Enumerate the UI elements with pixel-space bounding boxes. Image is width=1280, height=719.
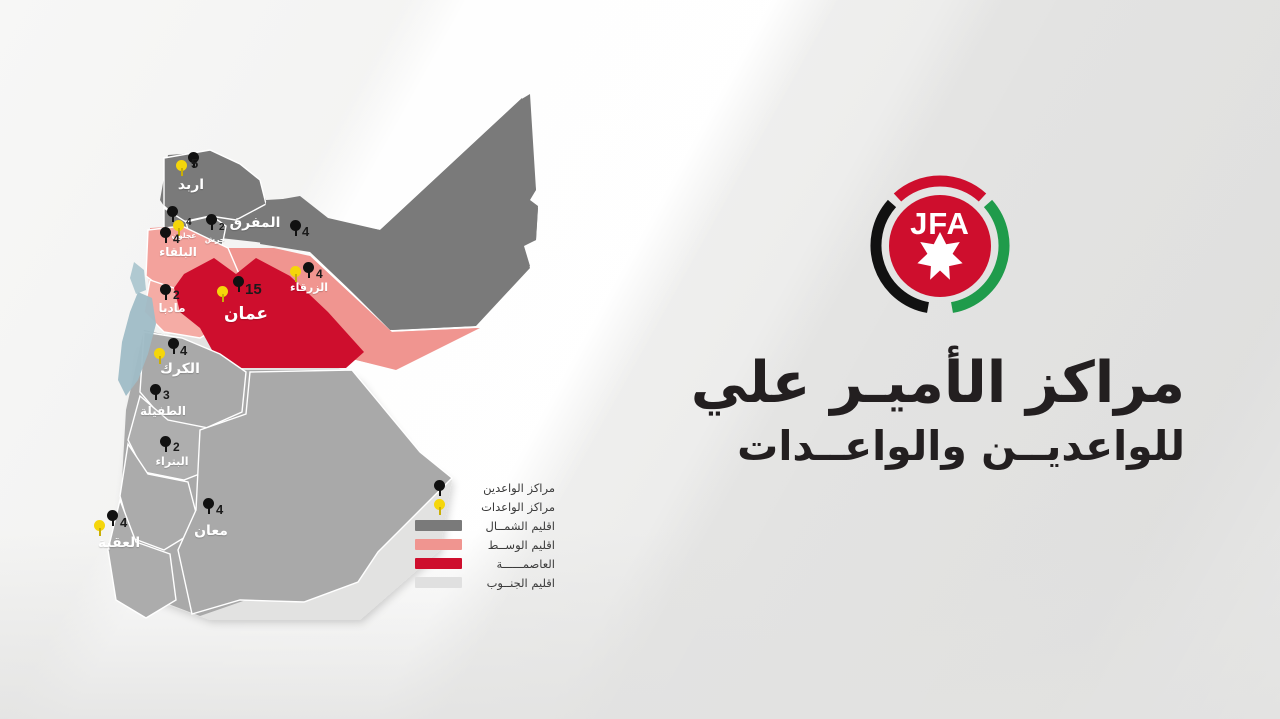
jfa-logo-svg	[862, 168, 1018, 324]
pin-yellow-irbid	[176, 160, 187, 176]
label-petra: البتراء	[155, 455, 188, 468]
count-mafraq: 4	[302, 224, 309, 239]
count-jerash: 2	[219, 222, 225, 233]
legend-label-north-region: اقليم الشمــال	[469, 519, 555, 533]
label-karak: الكرك	[160, 361, 200, 377]
count-aqaba: 4	[120, 515, 127, 530]
count-ajloun: 4	[186, 217, 192, 228]
jordan-river-valley	[130, 262, 146, 294]
count-zarqa: 4	[316, 267, 323, 281]
label-balqa: البلقاء	[159, 245, 197, 259]
legend-row-north-region: اقليم الشمــال	[415, 516, 555, 535]
count-balqa: 4	[173, 232, 180, 246]
legend-row-promising-women-centers: مراكز الواعدات	[415, 497, 555, 516]
pin-black-maan	[203, 498, 214, 514]
headline-line-1: مراكز الأميـر علي	[691, 352, 1185, 416]
map-legend: مراكز الواعدين مراكز الواعدات اقليم الشم…	[415, 478, 555, 592]
pin-yellow-zarqa	[290, 266, 301, 282]
label-amman: عمان	[224, 304, 268, 324]
pin-black-jerash	[206, 214, 217, 230]
label-aqaba: العقبة	[98, 535, 140, 551]
legend-swatch-south-region	[415, 577, 462, 588]
pin-black-aqaba	[107, 510, 118, 526]
pin-yellow-aqaba	[94, 520, 105, 536]
pin-black-karak	[168, 338, 179, 354]
headline: مراكز الأميـر علي للواعديــن والواعــدات	[691, 352, 1185, 471]
legend-label-promising-women-centers: مراكز الواعدات	[469, 500, 555, 514]
pin-black-petra	[160, 436, 171, 452]
legend-label-south-region: اقليم الجنــوب	[469, 576, 555, 590]
legend-swatch-north-region	[415, 520, 462, 531]
pin-black-amman	[233, 276, 244, 292]
count-karak: 4	[180, 343, 187, 358]
pin-black-madaba	[160, 284, 171, 300]
logo-wordmark: JFA	[862, 206, 1018, 242]
jfa-logo: JFA	[862, 168, 1018, 324]
legend-row-promising-men-centers: مراكز الواعدين	[415, 478, 555, 497]
label-madaba: مادبا	[158, 301, 185, 315]
headline-line-2: للواعديــن والواعــدات	[691, 422, 1185, 471]
legend-label-middle-region: اقليم الوســط	[469, 538, 555, 552]
legend-swatch-middle-region	[415, 539, 462, 550]
pin-black-mafraq	[290, 220, 301, 236]
pin-black-ajloun	[167, 206, 178, 222]
label-maan: معان	[194, 523, 228, 539]
legend-marker-promising-women-centers	[415, 497, 462, 516]
label-zarqa: الزرقاء	[290, 281, 328, 294]
count-tafilah: 3	[163, 388, 170, 402]
count-maan: 4	[216, 502, 223, 517]
count-petra: 2	[173, 440, 180, 454]
pin-black-icon	[434, 480, 445, 496]
legend-marker-promising-men-centers	[415, 478, 462, 497]
legend-row-capital-region: العاصمــــــة	[415, 554, 555, 573]
label-mafraq: المفرق	[230, 215, 281, 231]
count-irbid: 5	[191, 156, 198, 171]
count-amman: 15	[245, 281, 262, 298]
legend-row-south-region: اقليم الجنــوب	[415, 573, 555, 592]
legend-swatch-capital-region	[415, 558, 462, 569]
legend-label-promising-men-centers: مراكز الواعدين	[469, 481, 555, 495]
label-tafilah: الطفيلة	[140, 404, 186, 418]
pin-yellow-icon	[434, 499, 445, 515]
label-irbid: اربد	[178, 177, 204, 193]
count-madaba: 2	[173, 288, 180, 302]
pin-black-balqa	[160, 227, 171, 243]
pin-yellow-amman	[217, 286, 228, 302]
label-jerash: جرش	[205, 235, 225, 244]
pin-black-zarqa	[303, 262, 314, 278]
pin-black-tafilah	[150, 384, 161, 400]
legend-row-middle-region: اقليم الوســط	[415, 535, 555, 554]
legend-label-capital-region: العاصمــــــة	[469, 557, 555, 571]
